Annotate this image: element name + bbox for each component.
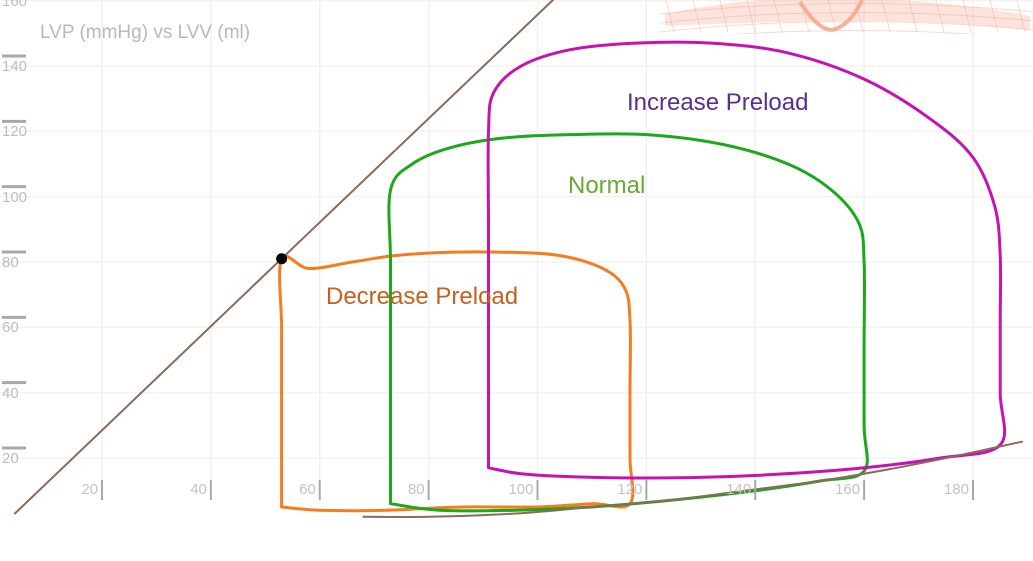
y-tick-label: 60 bbox=[2, 319, 19, 336]
pv-loop-chart bbox=[0, 0, 1033, 561]
curve-espvr bbox=[15, 0, 587, 514]
y-tick-label: 100 bbox=[2, 189, 27, 206]
x-tick-label: 40 bbox=[181, 481, 207, 498]
y-tick-label: 120 bbox=[2, 123, 27, 140]
y-tick-label: 40 bbox=[2, 385, 19, 402]
curve-normal bbox=[389, 134, 867, 511]
y-tick-label: 20 bbox=[2, 450, 19, 467]
x-tick-label: 20 bbox=[72, 481, 98, 498]
y-tick-label: 80 bbox=[2, 254, 19, 271]
x-tick-label: 140 bbox=[725, 481, 751, 498]
x-tick-label: 180 bbox=[943, 481, 969, 498]
grid-lines bbox=[0, 0, 1033, 489]
curve-decrease-preload bbox=[280, 252, 633, 511]
curve-increase-preload bbox=[488, 42, 1005, 478]
pv-loop-curves bbox=[15, 0, 1022, 517]
x-tick-label: 80 bbox=[399, 481, 425, 498]
x-tick-label: 120 bbox=[616, 481, 642, 498]
espvr-operating-point bbox=[276, 253, 287, 264]
x-tick-label: 160 bbox=[834, 481, 860, 498]
y-tick-label: 140 bbox=[2, 58, 27, 75]
x-tick-label: 60 bbox=[290, 481, 316, 498]
data-point-markers bbox=[276, 253, 287, 264]
x-tick-label: 100 bbox=[508, 481, 534, 498]
y-tick-label: 160 bbox=[2, 0, 27, 10]
